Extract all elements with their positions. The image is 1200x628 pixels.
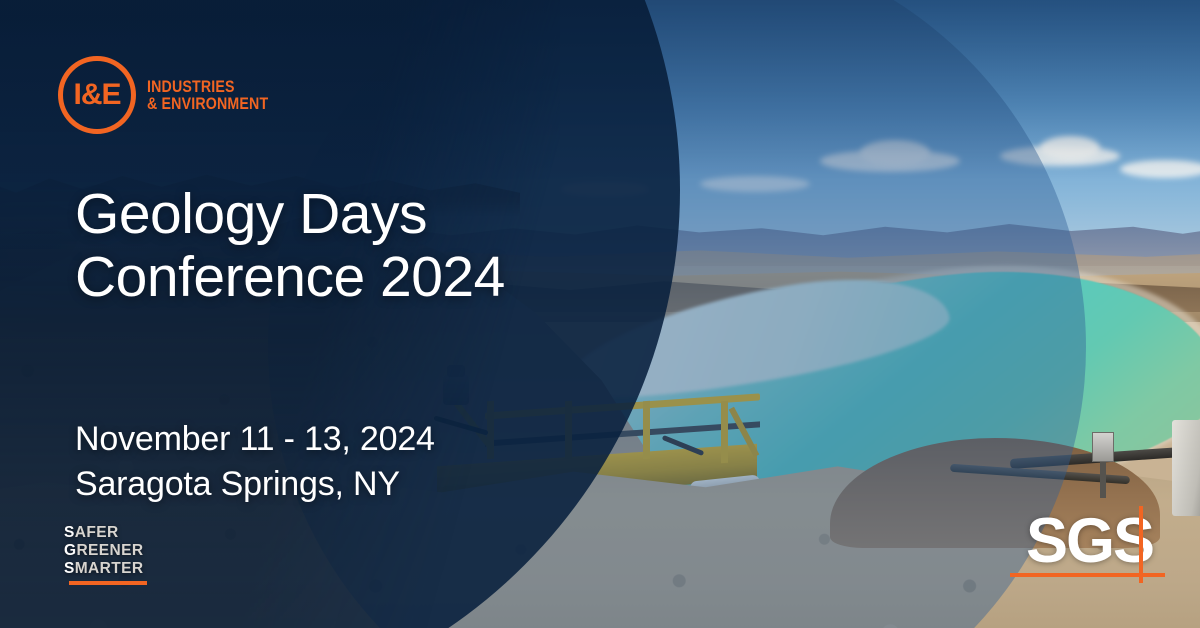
event-location: Saragota Springs, NY <box>75 462 435 507</box>
ie-circle-mark-icon: I&E <box>58 56 136 134</box>
sgs-tagline: SAFER GREENER SMARTER <box>64 524 147 585</box>
sgs-logo-text: SGS <box>1026 510 1153 573</box>
ie-name-line-1: INDUSTRIES <box>147 79 268 96</box>
event-details: November 11 - 13, 2024 Saragota Springs,… <box>75 417 435 507</box>
tagline-initial: G <box>64 542 76 559</box>
tagline-rest: MARTER <box>75 560 144 577</box>
ie-wordmark: INDUSTRIES & ENVIRONMENT <box>147 77 288 114</box>
banner-content: I&E INDUSTRIES & ENVIRONMENT Geology Day… <box>0 0 1200 628</box>
ie-mark-text: I&E <box>73 80 120 110</box>
ie-logo[interactable]: I&E INDUSTRIES & ENVIRONMENT <box>58 56 288 134</box>
page-title: Geology Days Conference 2024 <box>75 183 505 308</box>
sgs-logo-vertical-rule <box>1139 506 1143 583</box>
tagline-rest: REENER <box>76 542 143 559</box>
tagline-rest: AFER <box>75 524 119 541</box>
tagline-underline <box>69 581 147 585</box>
tagline-initial: S <box>64 524 75 541</box>
tagline-line-1: SAFER <box>64 524 147 542</box>
event-banner: I&E INDUSTRIES & ENVIRONMENT Geology Day… <box>0 0 1200 628</box>
ie-name-line-2: & ENVIRONMENT <box>147 96 268 113</box>
tagline-initial: S <box>64 560 75 577</box>
headline-line-1: Geology Days <box>75 182 427 246</box>
tagline-line-2: GREENER <box>64 542 147 560</box>
sgs-logo-horizontal-rule <box>1010 573 1165 577</box>
tagline-line-3: SMARTER <box>64 560 147 578</box>
headline-line-2: Conference 2024 <box>75 246 505 309</box>
event-dates: November 11 - 13, 2024 <box>75 417 435 462</box>
sgs-logo[interactable]: SGS <box>1012 506 1170 586</box>
